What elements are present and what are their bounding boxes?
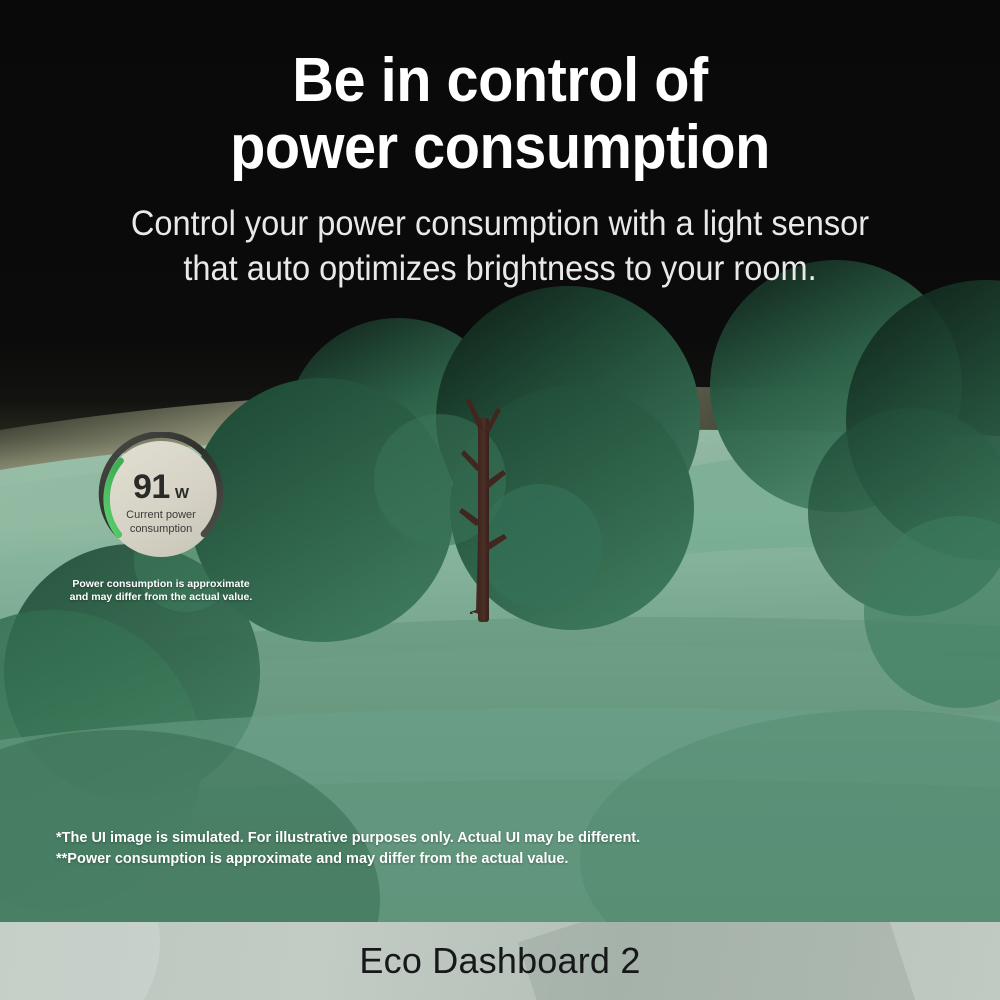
- caption-bar: Eco Dashboard 2: [0, 922, 1000, 1000]
- gauge-disclaimer-line-2: and may differ from the actual value.: [56, 591, 266, 604]
- caption-title: Eco Dashboard 2: [359, 940, 640, 982]
- gauge-readout: 91 W Current power consumption: [94, 432, 228, 566]
- gauge-disclaimer: Power consumption is approximate and may…: [56, 578, 266, 605]
- footnote-line-1: *The UI image is simulated. For illustra…: [56, 828, 836, 849]
- foliage-blob: [478, 484, 602, 608]
- eco-dashboard-card-row: Easy Eco setup: [0, 648, 1000, 828]
- footnote-line-2: **Power consumption is approximate and m…: [56, 849, 836, 870]
- gauge-value-row: 91 W: [133, 470, 189, 504]
- gauge-value: 91: [133, 470, 170, 504]
- promo-graphic: Be in control of power consumption Contr…: [0, 0, 1000, 1000]
- gauge-disclaimer-line-1: Power consumption is approximate: [56, 578, 266, 591]
- power-gauge-widget: 91 W Current power consumption Power con…: [94, 432, 228, 605]
- gauge-unit: W: [175, 486, 189, 501]
- power-gauge: 91 W Current power consumption: [94, 432, 228, 566]
- gauge-caption: Current power consumption: [106, 509, 216, 536]
- footnotes: *The UI image is simulated. For illustra…: [56, 828, 836, 871]
